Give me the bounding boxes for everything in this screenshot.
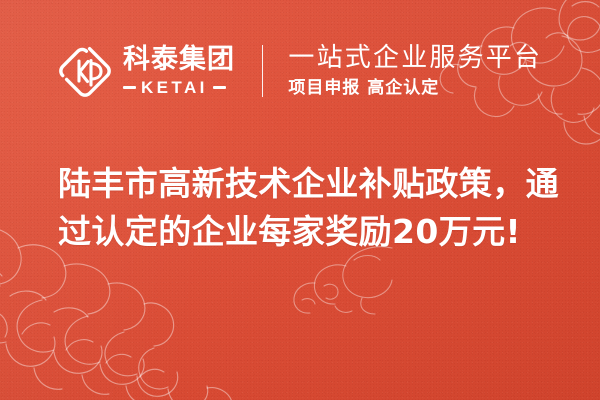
brand-logo[interactable]: 科泰集团 KETAI — [58, 44, 235, 98]
company-name-en: KETAI — [141, 79, 208, 96]
headline-line-1: 陆丰市高新技术企业补贴政策，通 — [58, 160, 550, 208]
company-name-cn: 科泰集团 — [123, 46, 235, 74]
header-divider — [262, 45, 263, 97]
company-name-en-row: KETAI — [123, 79, 235, 96]
logo-wordmark: 科泰集团 KETAI — [123, 46, 235, 96]
headline-line-2: 过认定的企业每家奖励20万元! — [58, 208, 550, 256]
headline: 陆丰市高新技术企业补贴政策，通 过认定的企业每家奖励20万元! — [58, 160, 550, 256]
tagline-secondary: 项目申报 高企认定 — [288, 79, 542, 98]
promo-banner: 科泰集团 KETAI 一站式企业服务平台 项目申报 高企认定 陆丰市高新技术企业… — [0, 0, 600, 400]
tagline-block: 一站式企业服务平台 项目申报 高企认定 — [288, 44, 542, 98]
ketai-diamond-kt-monogram-icon — [58, 44, 112, 98]
dash-left-icon — [123, 86, 136, 89]
tagline-primary: 一站式企业服务平台 — [288, 44, 542, 73]
banner-header: 科泰集团 KETAI 一站式企业服务平台 项目申报 高企认定 — [58, 38, 542, 104]
dash-right-icon — [213, 86, 226, 89]
